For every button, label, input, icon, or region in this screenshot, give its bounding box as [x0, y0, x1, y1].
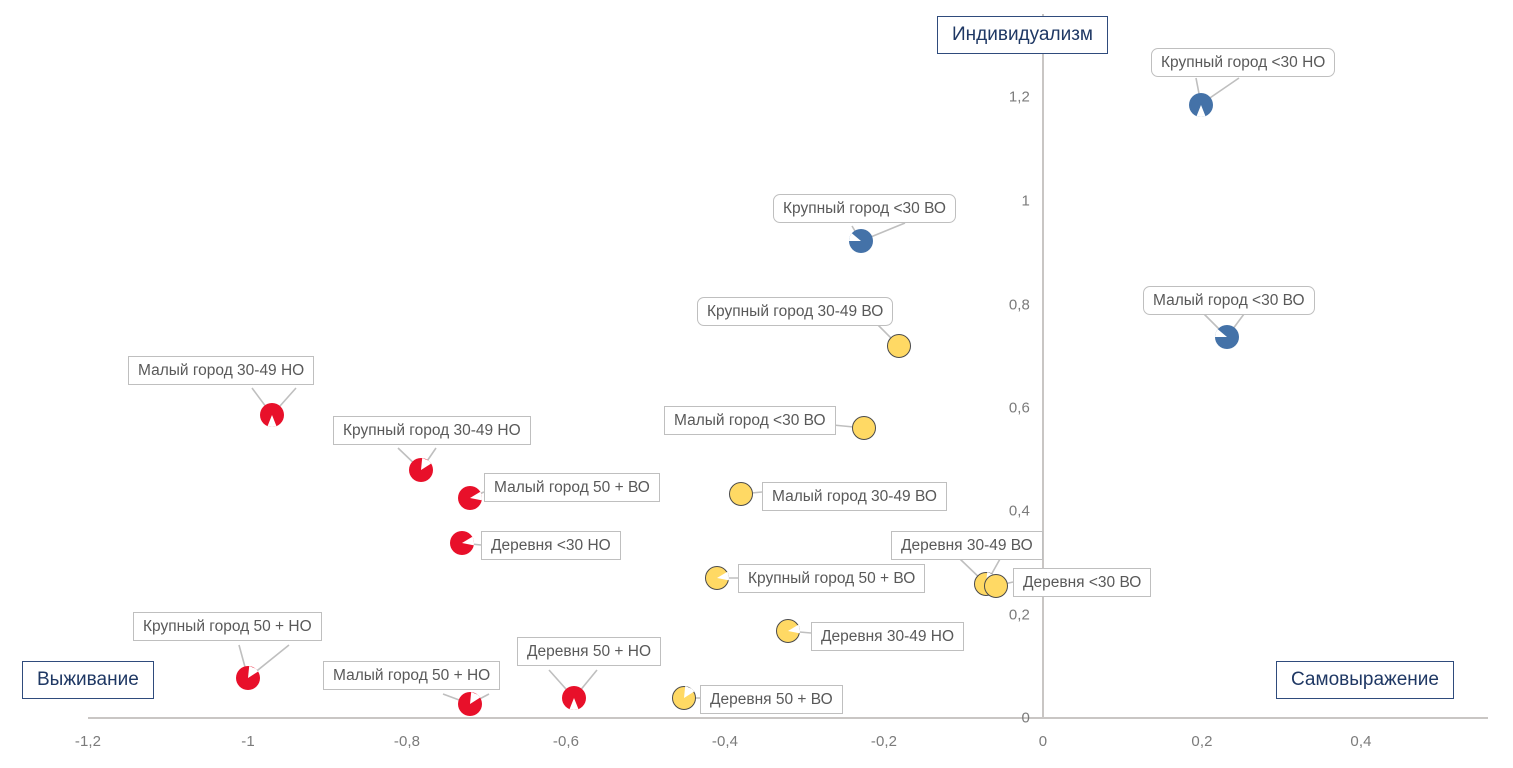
label-krupny-3049-vo[interactable]: Крупный город 30-49 ВО — [697, 297, 893, 326]
axis-title-self-expression: Самовыражение — [1276, 661, 1454, 699]
label-krupny-3049-no[interactable]: Крупный город 30-49 НО — [333, 416, 531, 445]
x-tick-label: -1 — [241, 733, 255, 750]
label-derevnya-30-vo[interactable]: Деревня <30 ВО — [1013, 568, 1151, 597]
x-tick-label: 0,2 — [1191, 733, 1212, 750]
y-tick-label: 1,2 — [990, 89, 1030, 106]
y-tick-label: 0,6 — [990, 400, 1030, 417]
marker-derevnya-30-vo[interactable] — [984, 574, 1008, 598]
x-tick-label: -0,4 — [712, 733, 738, 750]
marker-krupny-3049-vo[interactable] — [887, 334, 911, 358]
label-krupny-30-no[interactable]: Крупный город <30 НО — [1151, 48, 1335, 77]
x-axis-line — [88, 717, 1488, 719]
marker-maly-3049-vo[interactable] — [729, 482, 753, 506]
label-maly-50-no[interactable]: Малый город 50 + НО — [323, 661, 500, 690]
label-derevnya-3049-vo[interactable]: Деревня 30-49 ВО — [891, 531, 1043, 560]
marker-maly-30-vo[interactable] — [852, 416, 876, 440]
label-derevnya-50-no[interactable]: Деревня 50 + НО — [517, 637, 661, 666]
axis-title-individualism: Индивидуализм — [937, 16, 1108, 54]
label-derevnya-30-no[interactable]: Деревня <30 НО — [481, 531, 621, 560]
label-krupny-50-no[interactable]: Крупный город 50 + НО — [133, 612, 322, 641]
y-axis-line — [1042, 14, 1044, 718]
label-krupny-30-vo[interactable]: Крупный город <30 ВО — [773, 194, 956, 223]
label-derevnya-3049-no[interactable]: Деревня 30-49 НО — [811, 622, 964, 651]
label-maly-50-vo-red[interactable]: Малый город 50 + ВО — [484, 473, 660, 502]
y-tick-label: 0,4 — [990, 503, 1030, 520]
label-maly-3049-vo[interactable]: Малый город 30-49 ВО — [762, 482, 947, 511]
label-derevnya-50-vo[interactable]: Деревня 50 + ВО — [700, 685, 843, 714]
y-tick-label: 0 — [990, 710, 1030, 727]
label-maly-30-vo[interactable]: Малый город <30 ВО — [664, 406, 836, 435]
y-tick-label: 1 — [990, 193, 1030, 210]
x-tick-label: -1,2 — [75, 733, 101, 750]
x-tick-label: -0,2 — [871, 733, 897, 750]
y-tick-label: 0,8 — [990, 297, 1030, 314]
label-maly-3049-no[interactable]: Малый город 30-49 НО — [128, 356, 314, 385]
x-tick-label: -0,6 — [553, 733, 579, 750]
scatter-chart: -1,2-1-0,8-0,6-0,4-0,200,20,4 1,210,80,6… — [0, 0, 1513, 768]
marker-krupny-30-vo[interactable] — [849, 229, 873, 253]
y-tick-label: 0,2 — [990, 607, 1030, 624]
x-tick-label: -0,8 — [394, 733, 420, 750]
marker-maly-30-vo-blue[interactable] — [1215, 325, 1239, 349]
x-tick-label: 0 — [1039, 733, 1047, 750]
axis-title-survival: Выживание — [22, 661, 154, 699]
label-maly-30-vo-blue[interactable]: Малый город <30 ВО — [1143, 286, 1315, 315]
x-tick-label: 0,4 — [1350, 733, 1371, 750]
label-krupny-50-vo[interactable]: Крупный город 50 + ВО — [738, 564, 925, 593]
